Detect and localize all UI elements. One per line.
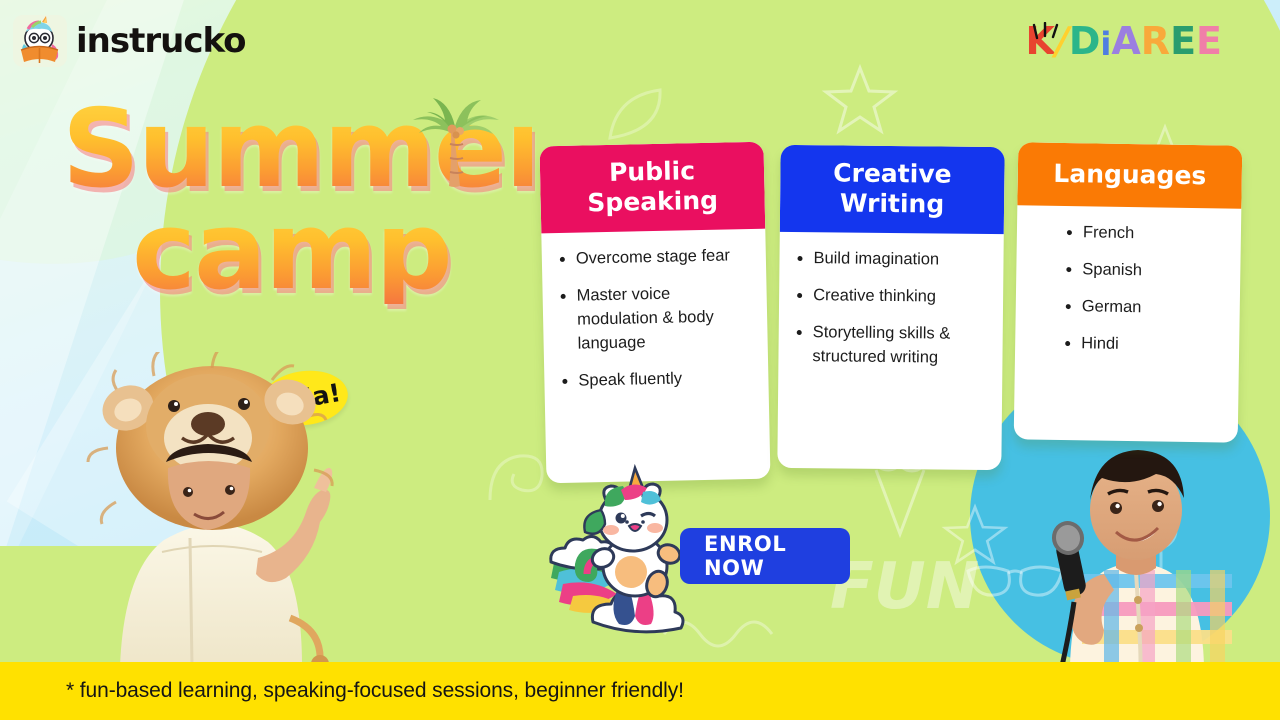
kidiaree-letter: R [1141,22,1170,60]
card-title: Creative Writing [780,145,1005,234]
kidiaree-letter: A [1111,22,1140,60]
enrol-now-button[interactable]: ENROL NOW [680,528,850,584]
list-item: French [1083,220,1225,246]
footer-note: * fun-based learning, speaking-focused s… [66,679,684,703]
photo-child-lion-costume [62,352,362,666]
hero-title: Summer camp [62,100,532,330]
list-item: Build imagination [813,246,987,272]
list-item: Master voice modulation & body language [576,280,751,356]
kidiaree-letter: i [1100,28,1111,60]
photo-boy-microphone [1012,442,1262,666]
card-public-speaking[interactable]: Public Speaking Overcome stage fear Mast… [539,142,770,484]
list-item: Overcome stage fear [576,243,750,271]
card-languages[interactable]: Languages French Spanish German Hindi [1014,142,1243,442]
list-item: Spanish [1082,257,1224,283]
list-item: Creative thinking [813,283,987,309]
card-title: Public Speaking [539,142,765,234]
instrucko-logo[interactable]: instrucko [12,14,246,68]
palm-tree-icon [400,88,510,198]
card-creative-writing[interactable]: Creative Writing Build imagination Creat… [777,145,1004,470]
list-item: German [1082,294,1224,320]
unicorn-reading-book-icon [12,14,68,68]
kidiaree-letter: D [1069,22,1101,60]
instrucko-wordmark: instrucko [76,21,246,61]
kidiaree-letter: E [1196,22,1222,60]
list-item: Speak fluently [578,365,752,393]
list-item: Hindi [1081,331,1223,357]
kidiaree-letter: E [1170,22,1196,60]
card-body: Build imagination Creative thinking Stor… [777,232,1003,470]
hero-title-line2: camp [132,200,532,304]
promo-banner: FUN [0,0,1280,720]
card-body: Overcome stage fear Master voice modulat… [541,229,770,484]
footer-bar: * fun-based learning, speaking-focused s… [0,662,1280,720]
list-item: Storytelling skills & structured writing [812,320,986,370]
card-title: Languages [1017,142,1242,209]
card-body: French Spanish German Hindi [1014,205,1242,442]
kidiaree-logo[interactable]: K / D i A R E E [1026,22,1222,60]
